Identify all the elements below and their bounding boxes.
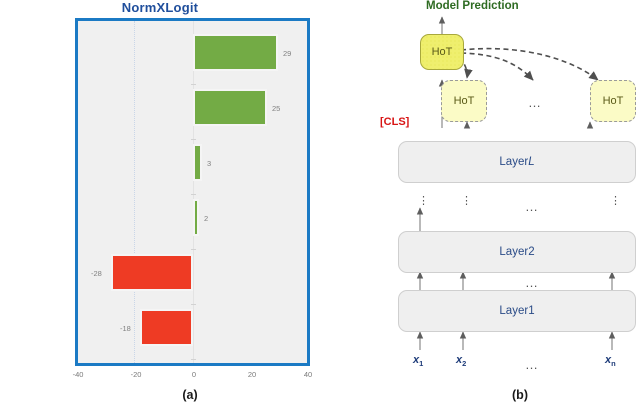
bar-value-2: 3 bbox=[207, 160, 211, 168]
bar-value-3: 2 bbox=[204, 215, 208, 223]
bar-5[interactable] bbox=[140, 309, 193, 346]
tick-mark bbox=[191, 84, 196, 85]
tick-mark bbox=[191, 304, 196, 305]
middle-ellipsis-2: … bbox=[525, 276, 540, 289]
panel-a-chart: NormXLogit A great movie with poor perfo… bbox=[0, 0, 320, 407]
bar-value-4: -28 bbox=[91, 270, 102, 278]
bar-1[interactable] bbox=[193, 89, 267, 126]
bar-2[interactable] bbox=[193, 144, 202, 181]
model-prediction-label: Model Prediction bbox=[426, 0, 519, 12]
bar-value-1: 25 bbox=[272, 105, 280, 113]
cls-token-label: [CLS] bbox=[380, 116, 409, 128]
input-xn-sub: n bbox=[611, 359, 616, 368]
layer-box-1[interactable]: Layer 1 bbox=[398, 290, 636, 332]
xtick-label-0: -40 bbox=[73, 370, 84, 379]
vertical-ellipsis-3: ⋮ bbox=[610, 196, 621, 207]
vertical-ellipsis-2: ⋮ bbox=[461, 196, 472, 207]
chart-title: NormXLogit bbox=[0, 0, 320, 15]
gridline-neg20 bbox=[134, 21, 136, 363]
layer-box-2[interactable]: Layer 2 bbox=[398, 231, 636, 273]
diagram-connectors bbox=[320, 0, 640, 407]
xtick-label-2: 0 bbox=[192, 370, 196, 379]
panel-a-caption: (a) bbox=[182, 388, 197, 402]
input-x2-sub: 2 bbox=[462, 359, 466, 368]
bar-4[interactable] bbox=[111, 254, 193, 291]
panel-b-diagram: Model Prediction bbox=[320, 0, 640, 407]
x-axis-ticks: -40 -20 0 20 40 bbox=[75, 370, 310, 384]
tick-mark bbox=[191, 194, 196, 195]
bar-value-5: -18 bbox=[120, 325, 131, 333]
hot-box-token-n[interactable]: HoT bbox=[590, 80, 636, 122]
xtick-label-3: 20 bbox=[248, 370, 256, 379]
hot-box-token-1[interactable]: HoT bbox=[441, 80, 487, 122]
layer-L-suffix: L bbox=[528, 156, 534, 168]
hot-row-ellipsis: … bbox=[528, 96, 543, 109]
panel-b-caption: (b) bbox=[512, 388, 528, 402]
layer-2-suffix: 2 bbox=[528, 246, 534, 258]
tick-mark bbox=[191, 359, 196, 360]
input-x2: x2 bbox=[456, 355, 466, 368]
input-xn: xn bbox=[605, 355, 616, 368]
zero-axis-line bbox=[193, 21, 194, 363]
layer-2-prefix: Layer bbox=[499, 246, 528, 258]
input-x1-sub: 1 bbox=[419, 359, 423, 368]
layer-1-suffix: 1 bbox=[528, 305, 534, 317]
vertical-ellipsis-1: ⋮ bbox=[418, 196, 429, 207]
xtick-label-4: 40 bbox=[304, 370, 312, 379]
layer-L-prefix: Layer bbox=[499, 156, 528, 168]
input-ellipsis: … bbox=[525, 358, 540, 371]
middle-ellipsis-1: … bbox=[525, 200, 540, 213]
bar-0[interactable] bbox=[193, 34, 278, 71]
layer-box-L[interactable]: Layer L bbox=[398, 141, 636, 183]
bar-value-0: 29 bbox=[283, 50, 291, 58]
tick-mark bbox=[191, 249, 196, 250]
chart-plot-area: 29 25 3 2 -28 -18 bbox=[75, 18, 310, 366]
tick-mark bbox=[191, 139, 196, 140]
layer-1-prefix: Layer bbox=[499, 305, 528, 317]
xtick-label-1: -20 bbox=[131, 370, 142, 379]
input-x1: x1 bbox=[413, 355, 423, 368]
hot-box-cls[interactable]: HoT bbox=[420, 34, 464, 70]
bar-3[interactable] bbox=[193, 199, 199, 236]
